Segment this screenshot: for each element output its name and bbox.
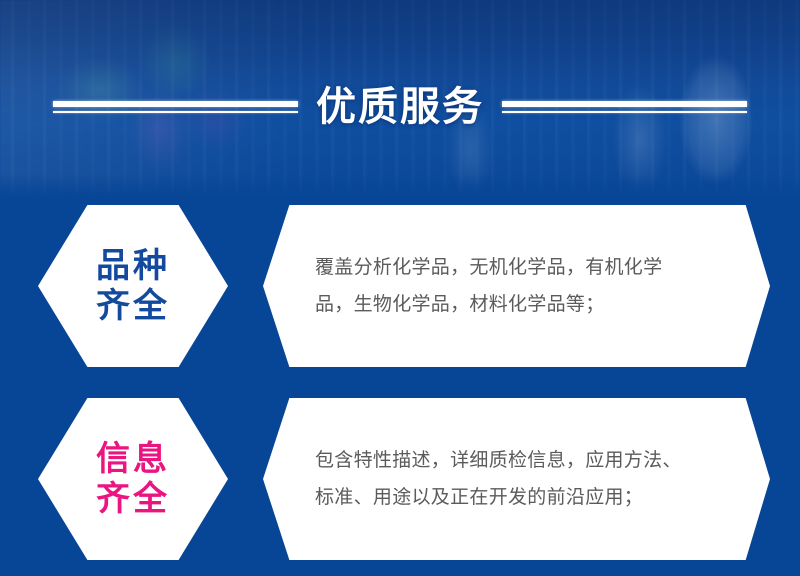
- feature-description-text: 覆盖分析化学品，无机化学品，有机化学 品，生物化学品，材料化学品等；: [263, 249, 720, 323]
- badge-line-2: 齐全: [96, 479, 170, 519]
- right-rule-thick-line: [502, 101, 747, 107]
- feature-rows: 品种 齐全 覆盖分析化学品，无机化学品，有机化学 品，生物化学品，材料化学品等；…: [0, 200, 800, 576]
- feature-row: 信息 齐全 包含特性描述，详细质检信息，应用方法、 标准、用途以及正在开发的前沿…: [0, 398, 800, 560]
- description-line-1: 包含特性描述，详细质检信息，应用方法、: [315, 442, 682, 479]
- right-rule-thin-line: [502, 111, 747, 113]
- feature-badge-variety: 品种 齐全: [38, 205, 228, 367]
- feature-badge-information: 信息 齐全: [38, 398, 228, 560]
- hero-bottom-fade: [0, 174, 800, 200]
- feature-description-text: 包含特性描述，详细质检信息，应用方法、 标准、用途以及正在开发的前沿应用；: [263, 442, 740, 516]
- badge-line-1: 品种: [96, 246, 170, 286]
- feature-description-panel-information: 包含特性描述，详细质检信息，应用方法、 标准、用途以及正在开发的前沿应用；: [263, 398, 770, 560]
- hero-header: 优质服务: [0, 0, 800, 200]
- hero-title-group: 优质服务: [0, 78, 800, 136]
- description-line-2: 标准、用途以及正在开发的前沿应用；: [315, 479, 682, 516]
- badge-line-2: 齐全: [96, 286, 170, 326]
- left-decorative-rule: [53, 101, 298, 113]
- description-line-1: 覆盖分析化学品，无机化学品，有机化学: [315, 249, 662, 286]
- badge-line-1: 信息: [96, 439, 170, 479]
- feature-description-panel-variety: 覆盖分析化学品，无机化学品，有机化学 品，生物化学品，材料化学品等；: [263, 205, 770, 367]
- quality-service-banner: 优质服务 品种 齐全 覆盖分析化学品，无机化学品，有机化学 品，生物化学品，材料…: [0, 0, 800, 576]
- feature-row: 品种 齐全 覆盖分析化学品，无机化学品，有机化学 品，生物化学品，材料化学品等；: [0, 205, 800, 367]
- right-decorative-rule: [502, 101, 747, 113]
- left-rule-thick-line: [53, 101, 298, 107]
- left-rule-thin-line: [53, 111, 298, 113]
- description-line-2: 品，生物化学品，材料化学品等；: [315, 286, 662, 323]
- page-title: 优质服务: [316, 87, 484, 127]
